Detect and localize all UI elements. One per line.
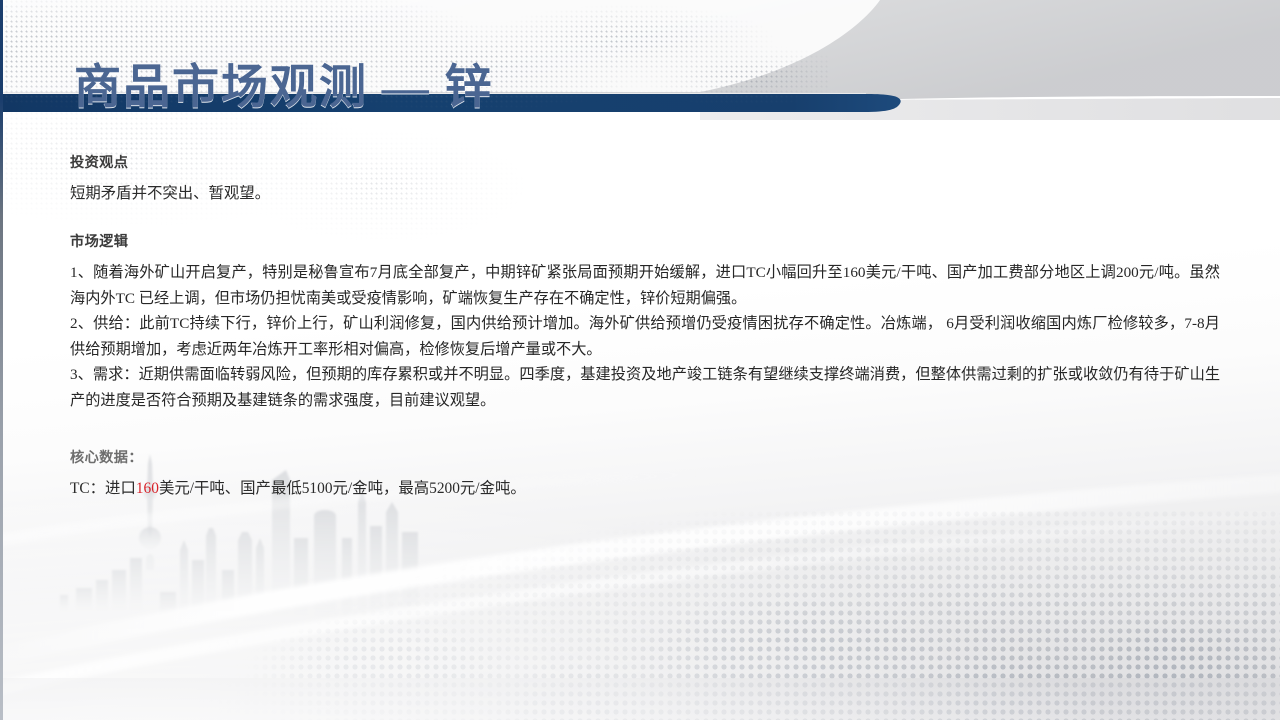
- investment-view-heading: 投资观点: [70, 152, 1220, 174]
- spacer: [70, 174, 1220, 181]
- spacer: [70, 253, 1220, 260]
- market-logic-item-1: 1、随着海外矿山开启复产，特别是秘鲁宣布7月底全部复产，中期锌矿紧张局面预期开始…: [70, 260, 1220, 311]
- market-logic-item-2: 2、供给：此前TC持续下行，锌价上行，矿山利润修复，国内供给预计增加。海外矿供给…: [70, 311, 1220, 362]
- spacer: [70, 207, 1220, 231]
- market-logic-heading: 市场逻辑: [70, 231, 1220, 253]
- core-data-heading: 核心数据：: [70, 447, 1220, 469]
- core-data-suffix: 美元/干吨、国产最低5100元/金吨，最高5200元/金吨。: [159, 480, 526, 497]
- investment-view-text: 短期矛盾并不突出、暂观望。: [70, 181, 1220, 207]
- content-body: 投资观点 短期矛盾并不突出、暂观望。 市场逻辑 1、随着海外矿山开启复产，特别是…: [70, 152, 1220, 502]
- slide-root: 商品市场观测 — 锌 投资观点 短期矛盾并不突出、暂观望。 市场逻辑 1、随着海…: [0, 0, 1280, 720]
- core-data-highlight: 160: [136, 480, 159, 497]
- page-title: 商品市场观测 — 锌: [74, 64, 494, 113]
- spacer: [70, 413, 1220, 447]
- left-edge-rule: [0, 0, 3, 720]
- core-data-prefix: TC：进口: [70, 480, 136, 497]
- market-logic-item-3: 3、需求：近期供需面临转弱风险，但预期的库存累积或并不明显。四季度，基建投资及地…: [70, 362, 1220, 413]
- spacer: [70, 469, 1220, 476]
- core-data-line: TC：进口160美元/干吨、国产最低5100元/金吨，最高5200元/金吨。: [70, 476, 1220, 502]
